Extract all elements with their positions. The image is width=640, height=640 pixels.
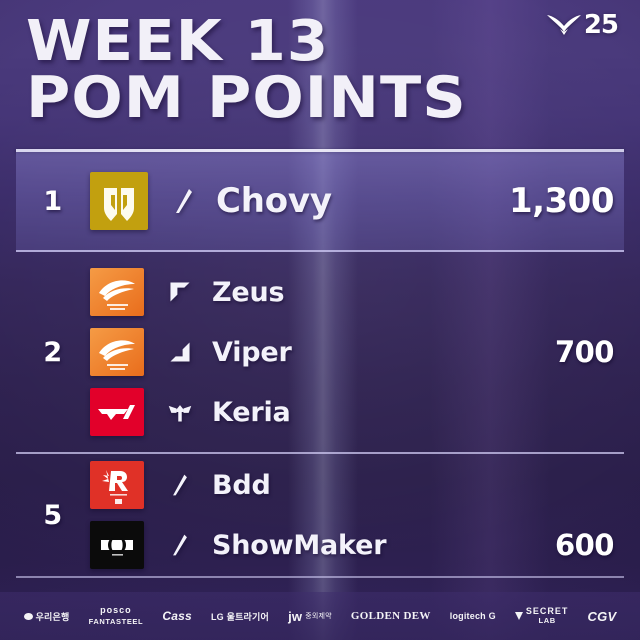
sponsor-label: Cass — [162, 609, 192, 623]
sponsor-label: logitech G — [450, 611, 496, 621]
mid-lane-icon — [162, 181, 206, 221]
sponsor-label: GOLDEN DEW — [351, 610, 431, 622]
player-row[interactable]: Keria — [90, 382, 624, 442]
sponsor-secretlab: SECRET LAB — [515, 607, 569, 624]
title-line-1: WEEK 13 — [26, 16, 640, 68]
rank-number: 1 — [16, 186, 90, 217]
sponsor-golden-dew: GOLDEN DEW — [351, 610, 431, 622]
points-value: 1,300 — [474, 181, 624, 221]
pom-points-graphic: 25 WEEK 13 POM POINTS 1 — [0, 0, 640, 640]
player-row[interactable]: Zeus — [90, 262, 624, 322]
header: 25 WEEK 13 POM POINTS — [0, 0, 640, 150]
player-name: Viper — [212, 337, 474, 368]
player-name: ShowMaker — [212, 530, 474, 561]
rank-number: 5 — [16, 500, 90, 531]
bnk-fearx-logo-icon — [90, 461, 144, 509]
dplus-kia-logo-icon — [90, 521, 144, 569]
player-list: Bdd — [90, 455, 624, 575]
title-line-2: POM POINTS — [26, 72, 640, 124]
mid-lane-icon — [158, 465, 202, 505]
ranking-group-2[interactable]: 2 — [16, 252, 624, 454]
mid-lane-icon — [158, 525, 202, 565]
sponsor-sublabel: FANTASTEEL — [89, 618, 144, 626]
rank-number: 2 — [16, 337, 90, 368]
player-row[interactable]: Chovy 1,300 — [90, 153, 624, 249]
woori-mark-icon — [24, 613, 33, 620]
sponsor-label: posco — [100, 606, 132, 615]
ranking-group-5[interactable]: 5 — [16, 454, 624, 578]
sponsor-sublabel: LAB — [539, 617, 556, 625]
page-title: WEEK 13 POM POINTS — [26, 16, 616, 124]
bot-lane-icon — [158, 332, 202, 372]
sponsor-posco-fantasteel: posco FANTASTEEL — [89, 606, 144, 626]
player-name: Keria — [212, 397, 474, 428]
sponsor-cass: Cass — [162, 609, 192, 623]
secretlab-mark-icon — [515, 612, 523, 620]
sponsor-label: LG 울트라기어 — [211, 610, 269, 623]
player-row[interactable]: Bdd — [90, 455, 624, 515]
rankings-board: 1 Chovy — [16, 152, 624, 578]
sponsor-bar: 우리은행 posco FANTASTEEL Cass LG 울트라기어 jw 중… — [0, 592, 640, 640]
geng-logo-icon — [90, 172, 148, 230]
hanwha-life-logo-icon — [90, 328, 144, 376]
sponsor-label: CGV — [588, 609, 617, 624]
player-name: Zeus — [212, 277, 474, 308]
points-value: 700 — [474, 335, 624, 369]
player-row[interactable]: ShowMaker 600 — [90, 515, 624, 575]
player-list: Zeus — [90, 262, 624, 442]
top-lane-icon — [158, 272, 202, 312]
sponsor-label: 우리은행 — [36, 610, 70, 623]
support-icon — [158, 392, 202, 432]
sponsor-label: jw — [288, 609, 302, 624]
sponsor-jw-pharmaceutical: jw 중외제약 — [288, 609, 332, 624]
sponsor-woori-bank: 우리은행 — [24, 610, 70, 623]
player-row[interactable]: Viper 700 — [90, 322, 624, 382]
hanwha-life-logo-icon — [90, 268, 144, 316]
player-name: Bdd — [212, 470, 474, 501]
sponsor-logitech-g: logitech G — [450, 611, 496, 621]
ranking-group-1[interactable]: 1 Chovy — [16, 152, 624, 252]
player-list: Chovy 1,300 — [90, 153, 624, 249]
t1-logo-icon — [90, 388, 144, 436]
sponsor-lg-ultragear: LG 울트라기어 — [211, 610, 269, 623]
player-name: Chovy — [216, 181, 474, 221]
points-value: 600 — [474, 528, 624, 562]
sponsor-sublabel: 중외제약 — [305, 611, 332, 621]
sponsor-cgv: CGV — [588, 609, 617, 624]
